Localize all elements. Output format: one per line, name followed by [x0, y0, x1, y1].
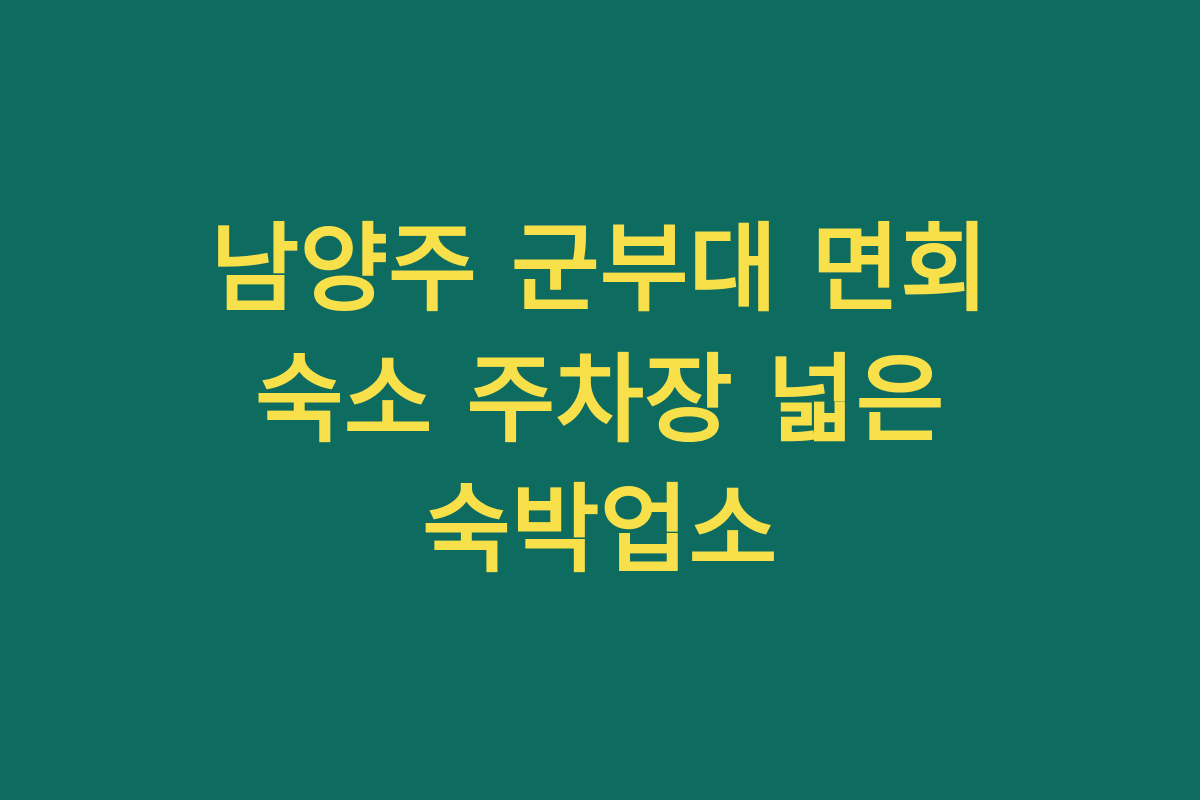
banner-title: 남양주 군부대 면회 숙소 주차장 넓은 숙박업소 — [118, 204, 1082, 596]
banner-content: 남양주 군부대 면회 숙소 주차장 넓은 숙박업소 — [0, 204, 1200, 596]
text-banner: 남양주 군부대 면회 숙소 주차장 넓은 숙박업소 — [0, 0, 1200, 800]
